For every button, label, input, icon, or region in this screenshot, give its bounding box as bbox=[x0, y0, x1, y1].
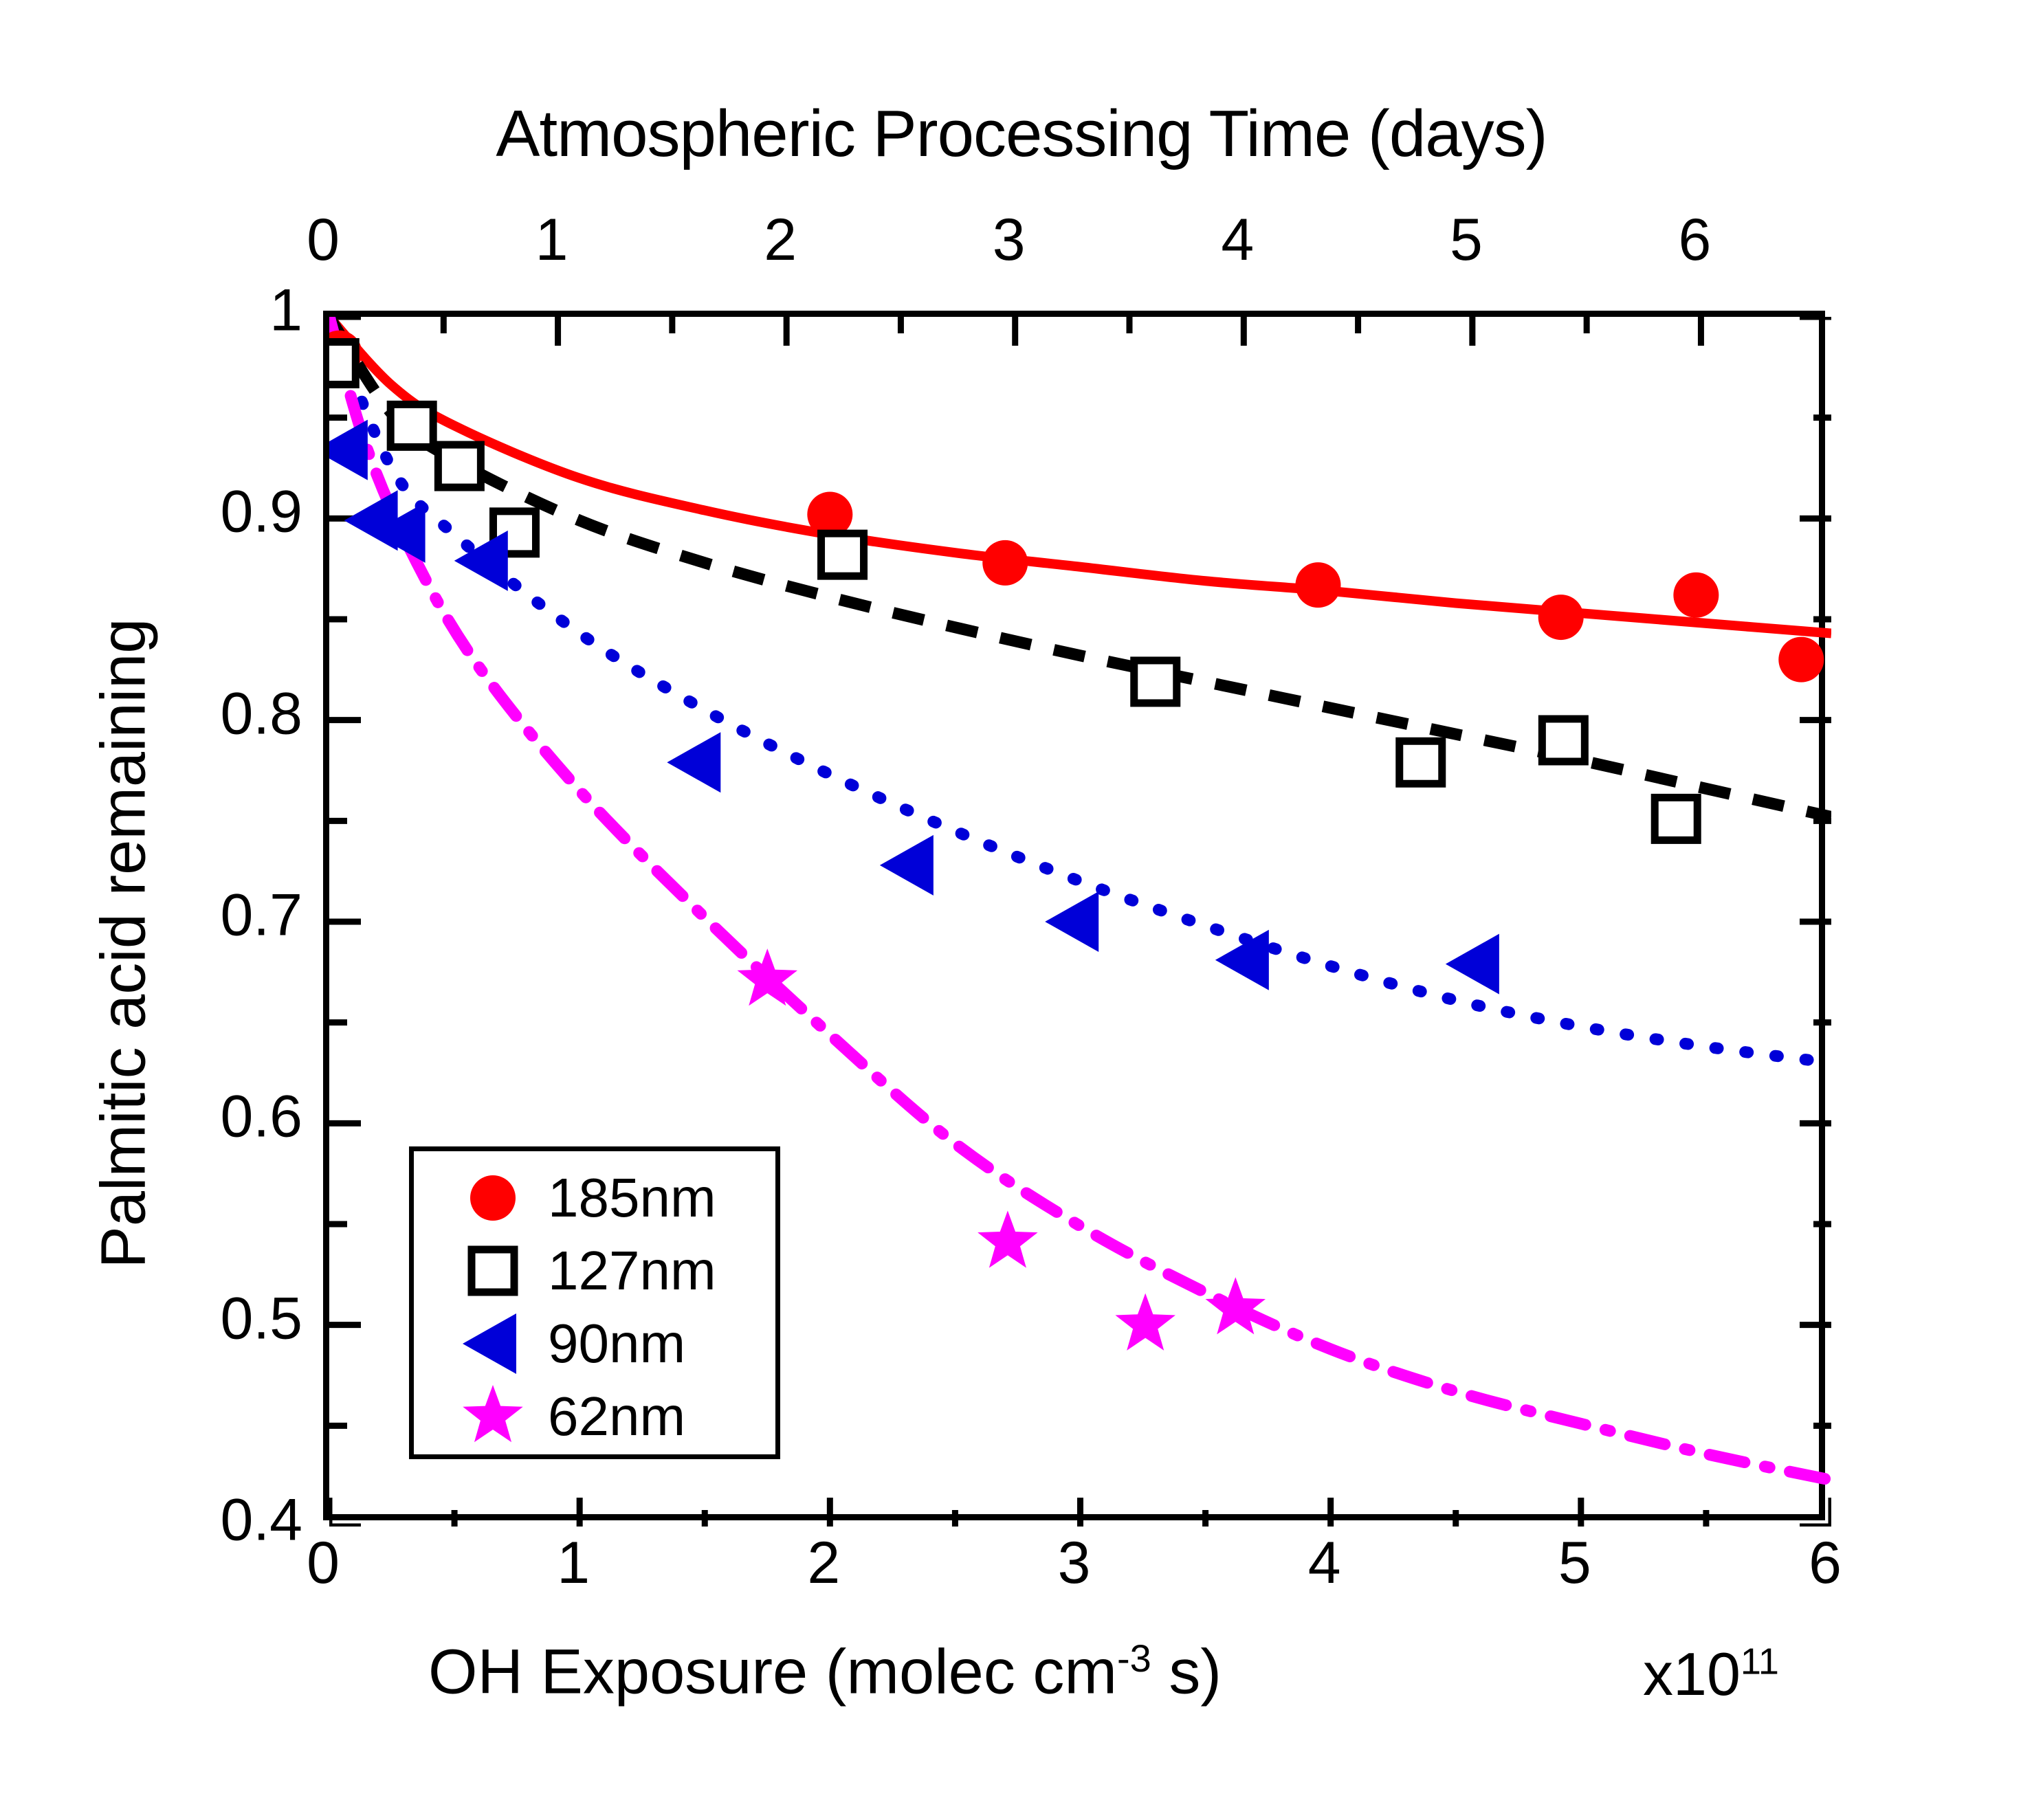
legend-item-127nm[interactable]: 127nm bbox=[414, 1236, 785, 1305]
x-axis-tick-labels: 0123456 bbox=[0, 1529, 2043, 1605]
x-axis-title-main: OH Exposure (molec cm bbox=[428, 1637, 1117, 1707]
top-tick-label: 5 bbox=[1450, 206, 1483, 274]
x-axis-title: OH Exposure (molec cm-3 s) bbox=[0, 1636, 1650, 1709]
data-point bbox=[1115, 1294, 1175, 1351]
left-triangle-marker bbox=[329, 420, 368, 480]
left-triangle-marker bbox=[1446, 934, 1499, 995]
data-point bbox=[667, 732, 720, 792]
data-point bbox=[982, 540, 1028, 586]
data-point bbox=[454, 531, 508, 591]
x-tick-label: 2 bbox=[807, 1529, 840, 1597]
legend-box: 185nm127nm90nm62nm bbox=[409, 1146, 780, 1459]
legend-item-90nm[interactable]: 90nm bbox=[414, 1309, 785, 1378]
fit-line-185nm bbox=[329, 317, 1831, 634]
x-tick-label: 6 bbox=[1809, 1529, 1842, 1597]
circle-marker bbox=[1295, 562, 1340, 608]
x-tick-label: 0 bbox=[307, 1529, 340, 1597]
legend-marker-left-triangle-icon bbox=[441, 1309, 544, 1378]
data-point bbox=[880, 835, 934, 896]
left-triangle-marker bbox=[667, 732, 720, 792]
x-axis-title-exponent: -3 bbox=[1117, 1636, 1151, 1680]
x-tick-label: 3 bbox=[1058, 1529, 1091, 1597]
x-tick-label: 1 bbox=[557, 1529, 590, 1597]
data-point bbox=[1045, 891, 1098, 952]
data-point bbox=[470, 1175, 516, 1221]
data-point bbox=[1134, 661, 1177, 703]
circle-marker bbox=[1673, 573, 1719, 618]
x-axis-title-tail: s) bbox=[1151, 1637, 1222, 1707]
x-axis-multiplier-base: x10 bbox=[1643, 1640, 1741, 1708]
open-square-marker bbox=[472, 1250, 514, 1292]
open-square-marker bbox=[821, 533, 864, 576]
left-triangle-marker bbox=[454, 531, 508, 591]
data-point bbox=[463, 1385, 522, 1442]
y-tick-label: 0.9 bbox=[220, 478, 302, 546]
chart-figure: Atmospheric Processing Time (days) 01234… bbox=[0, 0, 2043, 1820]
x-tick-label: 4 bbox=[1308, 1529, 1341, 1597]
legend-item-62nm[interactable]: 62nm bbox=[414, 1382, 785, 1451]
left-triangle-marker bbox=[1045, 891, 1098, 952]
fit-line-90nm bbox=[329, 317, 1831, 1063]
left-triangle-marker bbox=[463, 1313, 516, 1374]
star-marker bbox=[463, 1385, 522, 1442]
data-point bbox=[1446, 934, 1499, 995]
open-square-marker bbox=[390, 404, 433, 447]
open-square-marker bbox=[438, 445, 481, 487]
open-square-marker bbox=[1655, 797, 1697, 840]
top-tick-label: 6 bbox=[1679, 206, 1712, 274]
data-point bbox=[390, 404, 433, 447]
data-point bbox=[329, 342, 355, 384]
top-tick-label: 4 bbox=[1221, 206, 1254, 274]
x-axis-multiplier-exponent: 11 bbox=[1741, 1641, 1779, 1683]
data-point bbox=[1673, 573, 1719, 618]
data-point bbox=[329, 420, 368, 480]
data-point bbox=[1655, 797, 1697, 840]
legend-label: 185nm bbox=[548, 1164, 775, 1232]
legend-marker-star-icon bbox=[441, 1382, 544, 1451]
data-point bbox=[1538, 595, 1584, 640]
circle-marker bbox=[982, 540, 1028, 586]
star-marker bbox=[1115, 1294, 1175, 1351]
data-point bbox=[472, 1250, 514, 1292]
data-point bbox=[1206, 1277, 1266, 1334]
circle-marker bbox=[1538, 595, 1584, 640]
y-tick-label: 1 bbox=[269, 277, 302, 345]
data-point bbox=[1542, 719, 1584, 762]
data-point bbox=[821, 533, 864, 576]
top-tick-label: 3 bbox=[993, 206, 1026, 274]
data-point bbox=[978, 1210, 1037, 1267]
star-marker bbox=[978, 1210, 1037, 1267]
star-marker bbox=[1206, 1277, 1266, 1334]
top-tick-label: 1 bbox=[535, 206, 568, 274]
y-axis-title: Palmitic acid remaining bbox=[88, 463, 160, 1425]
x-axis-multiplier: x1011 bbox=[1643, 1639, 1779, 1709]
data-point bbox=[1778, 637, 1824, 682]
circle-marker bbox=[1778, 637, 1824, 682]
open-square-marker bbox=[1134, 661, 1177, 703]
data-point bbox=[463, 1313, 516, 1374]
circle-marker bbox=[470, 1175, 516, 1221]
legend-label: 127nm bbox=[548, 1236, 775, 1305]
y-tick-label: 0.8 bbox=[220, 680, 302, 748]
y-tick-label: 0.5 bbox=[220, 1285, 302, 1353]
legend-label: 62nm bbox=[548, 1382, 775, 1451]
x-tick-label: 5 bbox=[1558, 1529, 1591, 1597]
y-tick-label: 0.7 bbox=[220, 882, 302, 950]
y-tick-label: 0.6 bbox=[220, 1083, 302, 1151]
data-point bbox=[438, 445, 481, 487]
legend-label: 90nm bbox=[548, 1309, 775, 1378]
top-tick-label: 2 bbox=[764, 206, 797, 274]
open-square-marker bbox=[1400, 741, 1442, 784]
data-point bbox=[1400, 741, 1442, 784]
legend-item-185nm[interactable]: 185nm bbox=[414, 1164, 785, 1232]
data-point bbox=[1295, 562, 1340, 608]
left-triangle-marker bbox=[880, 835, 934, 896]
legend-marker-open-square-icon bbox=[441, 1236, 544, 1305]
open-square-marker bbox=[329, 342, 355, 384]
open-square-marker bbox=[1542, 719, 1584, 762]
legend-marker-circle-icon bbox=[441, 1164, 544, 1232]
